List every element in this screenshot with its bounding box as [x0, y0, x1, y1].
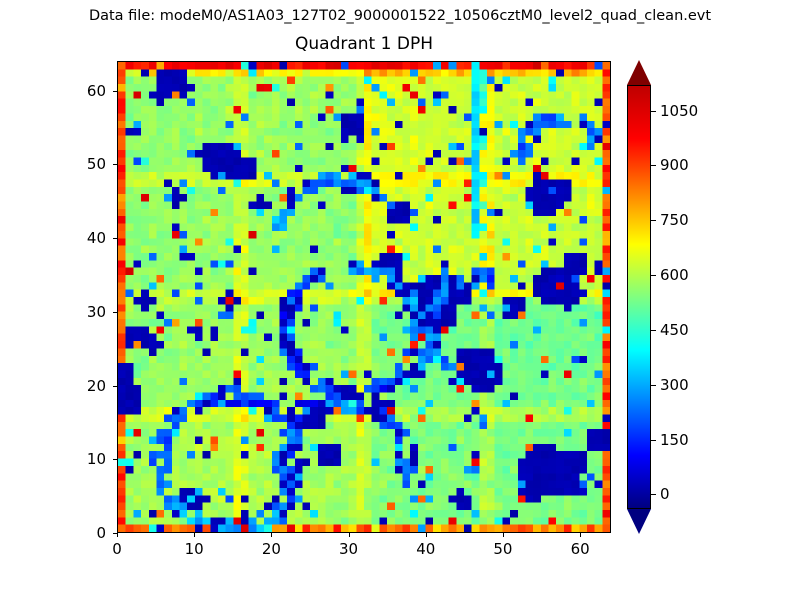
y-tick-label: 30: [46, 303, 106, 321]
x-tick-mark: [117, 533, 118, 537]
y-tick-mark: [113, 533, 117, 534]
x-tick-mark: [580, 533, 581, 537]
y-tick-label: 40: [46, 229, 106, 247]
colorbar-under-arrow-icon: [627, 509, 651, 534]
y-tick-mark: [113, 238, 117, 239]
x-tick-label: 10: [164, 540, 224, 558]
x-tick-mark: [194, 533, 195, 537]
colorbar-tick-mark: [651, 220, 656, 221]
x-tick-label: 40: [396, 540, 456, 558]
x-tick-mark: [271, 533, 272, 537]
colorbar-tick-label: 0: [660, 485, 670, 503]
y-tick-label: 20: [46, 377, 106, 395]
colorbar-tick-label: 600: [660, 266, 689, 284]
colorbar-over-arrow-icon: [627, 60, 651, 85]
x-tick-label: 20: [241, 540, 301, 558]
colorbar-tick-mark: [651, 165, 656, 166]
colorbar-tick-mark: [651, 330, 656, 331]
colorbar-tick-mark: [651, 275, 656, 276]
x-tick-label: 0: [87, 540, 147, 558]
data-file-suptitle: Data file: modeM0/AS1A03_127T02_90000015…: [0, 6, 800, 26]
y-tick-label: 0: [46, 524, 106, 542]
colorbar-tick-mark: [651, 494, 656, 495]
colorbar-tick-mark: [651, 385, 656, 386]
colorbar-tick-label: 750: [660, 211, 689, 229]
x-tick-label: 60: [550, 540, 610, 558]
y-tick-mark: [113, 91, 117, 92]
x-tick-mark: [503, 533, 504, 537]
colorbar-tick-label: 150: [660, 431, 689, 449]
x-tick-label: 30: [319, 540, 379, 558]
colorbar[interactable]: 01503004506007509001050: [627, 85, 651, 509]
colorbar-tick-label: 300: [660, 376, 689, 394]
x-tick-mark: [426, 533, 427, 537]
x-tick-label: 50: [473, 540, 533, 558]
y-tick-mark: [113, 164, 117, 165]
heatmap-axes[interactable]: [117, 61, 611, 533]
y-tick-label: 10: [46, 450, 106, 468]
colorbar-tick-label: 1050: [660, 102, 698, 120]
y-tick-label: 60: [46, 82, 106, 100]
x-tick-mark: [349, 533, 350, 537]
detector-heatmap[interactable]: [118, 62, 610, 532]
figure-canvas: Data file: modeM0/AS1A03_127T02_90000015…: [0, 0, 800, 600]
page-title: Quadrant 1 DPH: [117, 33, 611, 55]
colorbar-tick-mark: [651, 111, 656, 112]
y-tick-mark: [113, 459, 117, 460]
colorbar-tick-label: 900: [660, 156, 689, 174]
colorbar-body: [627, 85, 651, 509]
y-tick-label: 50: [46, 155, 106, 173]
y-tick-mark: [113, 386, 117, 387]
colorbar-gradient: [628, 86, 650, 508]
colorbar-tick-label: 450: [660, 321, 689, 339]
y-tick-mark: [113, 312, 117, 313]
colorbar-tick-mark: [651, 440, 656, 441]
